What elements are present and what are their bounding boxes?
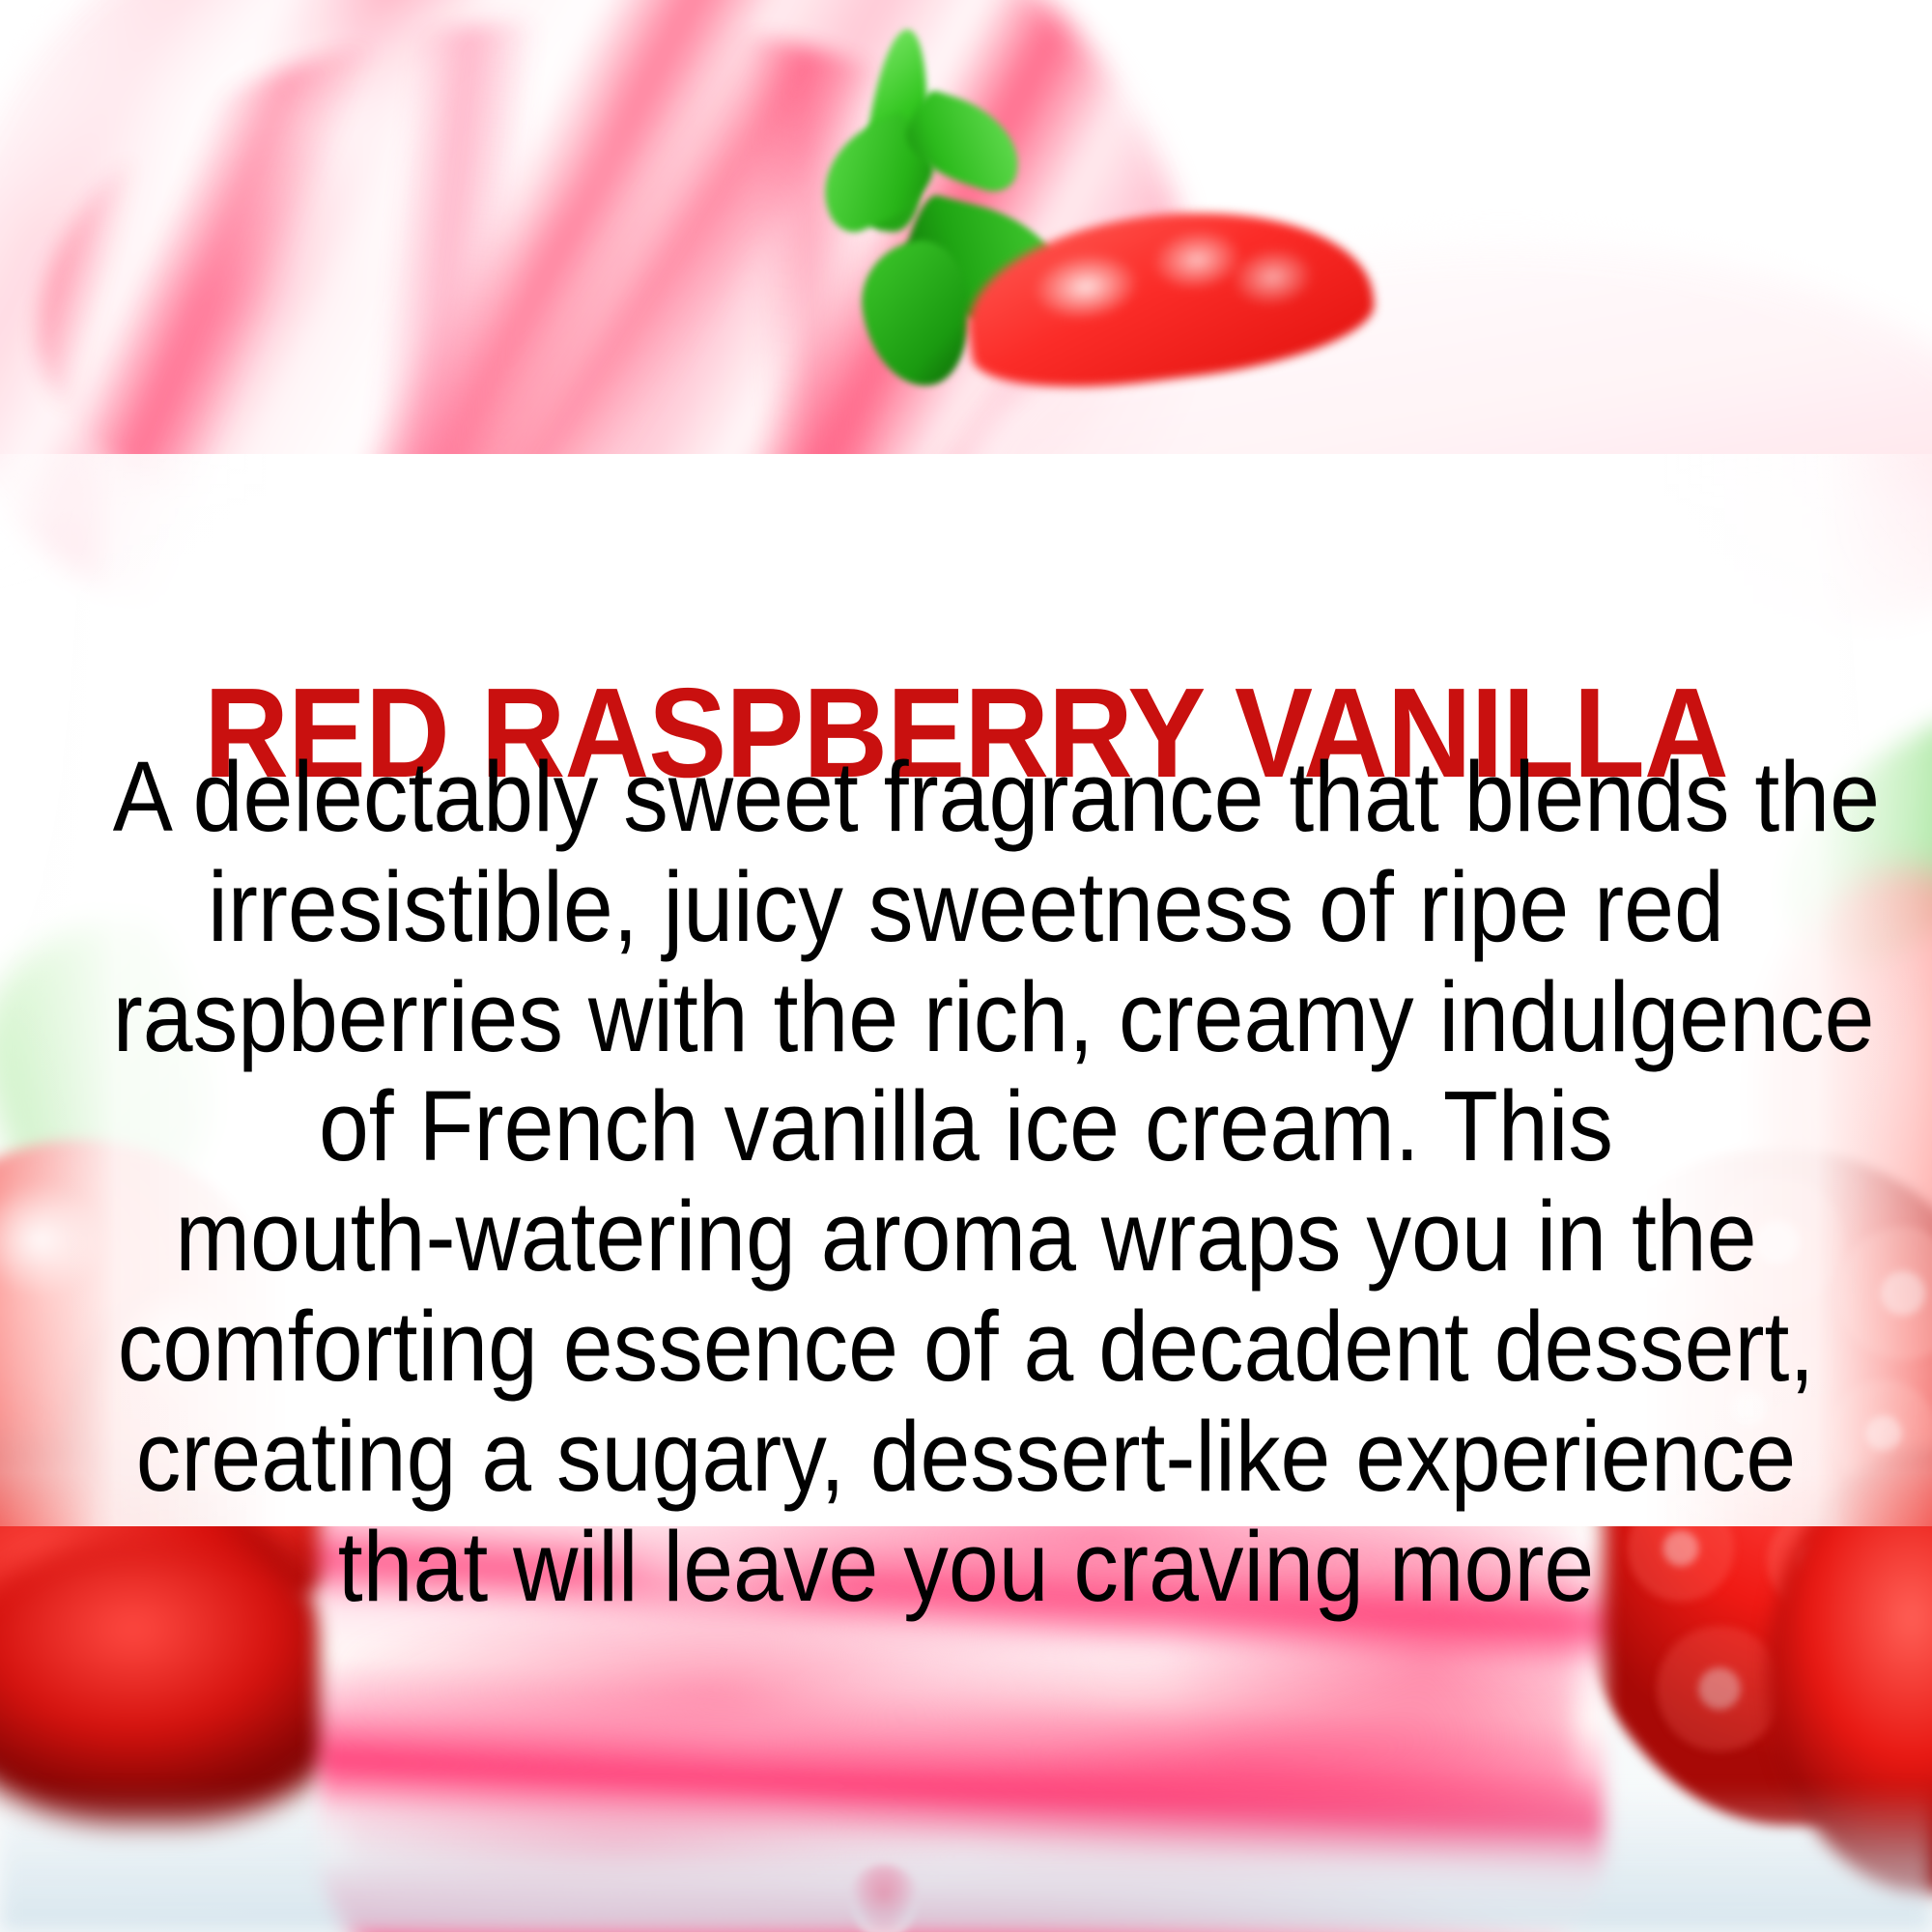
poster-content: RED RASPBERRY VANILLA A delectably sweet… <box>0 0 1932 1932</box>
description-line: raspberries with the rich, creamy indulg… <box>113 962 1820 1072</box>
description-line: creating a sugary, dessert-like experien… <box>113 1402 1820 1512</box>
description-line: A delectably sweet fragrance that blends… <box>113 742 1820 852</box>
description-line: comforting essence of a decadent dessert… <box>113 1292 1820 1402</box>
description-line: of French vanilla ice cream. This <box>113 1071 1820 1181</box>
product-poster: RED RASPBERRY VANILLA A delectably sweet… <box>0 0 1932 1932</box>
description-line: that will leave you craving more <box>113 1512 1820 1622</box>
description-line: irresistible, juicy sweetness of ripe re… <box>113 852 1820 962</box>
product-description: A delectably sweet fragrance that blends… <box>113 742 1820 1622</box>
description-line: mouth-watering aroma wraps you in the <box>113 1181 1820 1292</box>
